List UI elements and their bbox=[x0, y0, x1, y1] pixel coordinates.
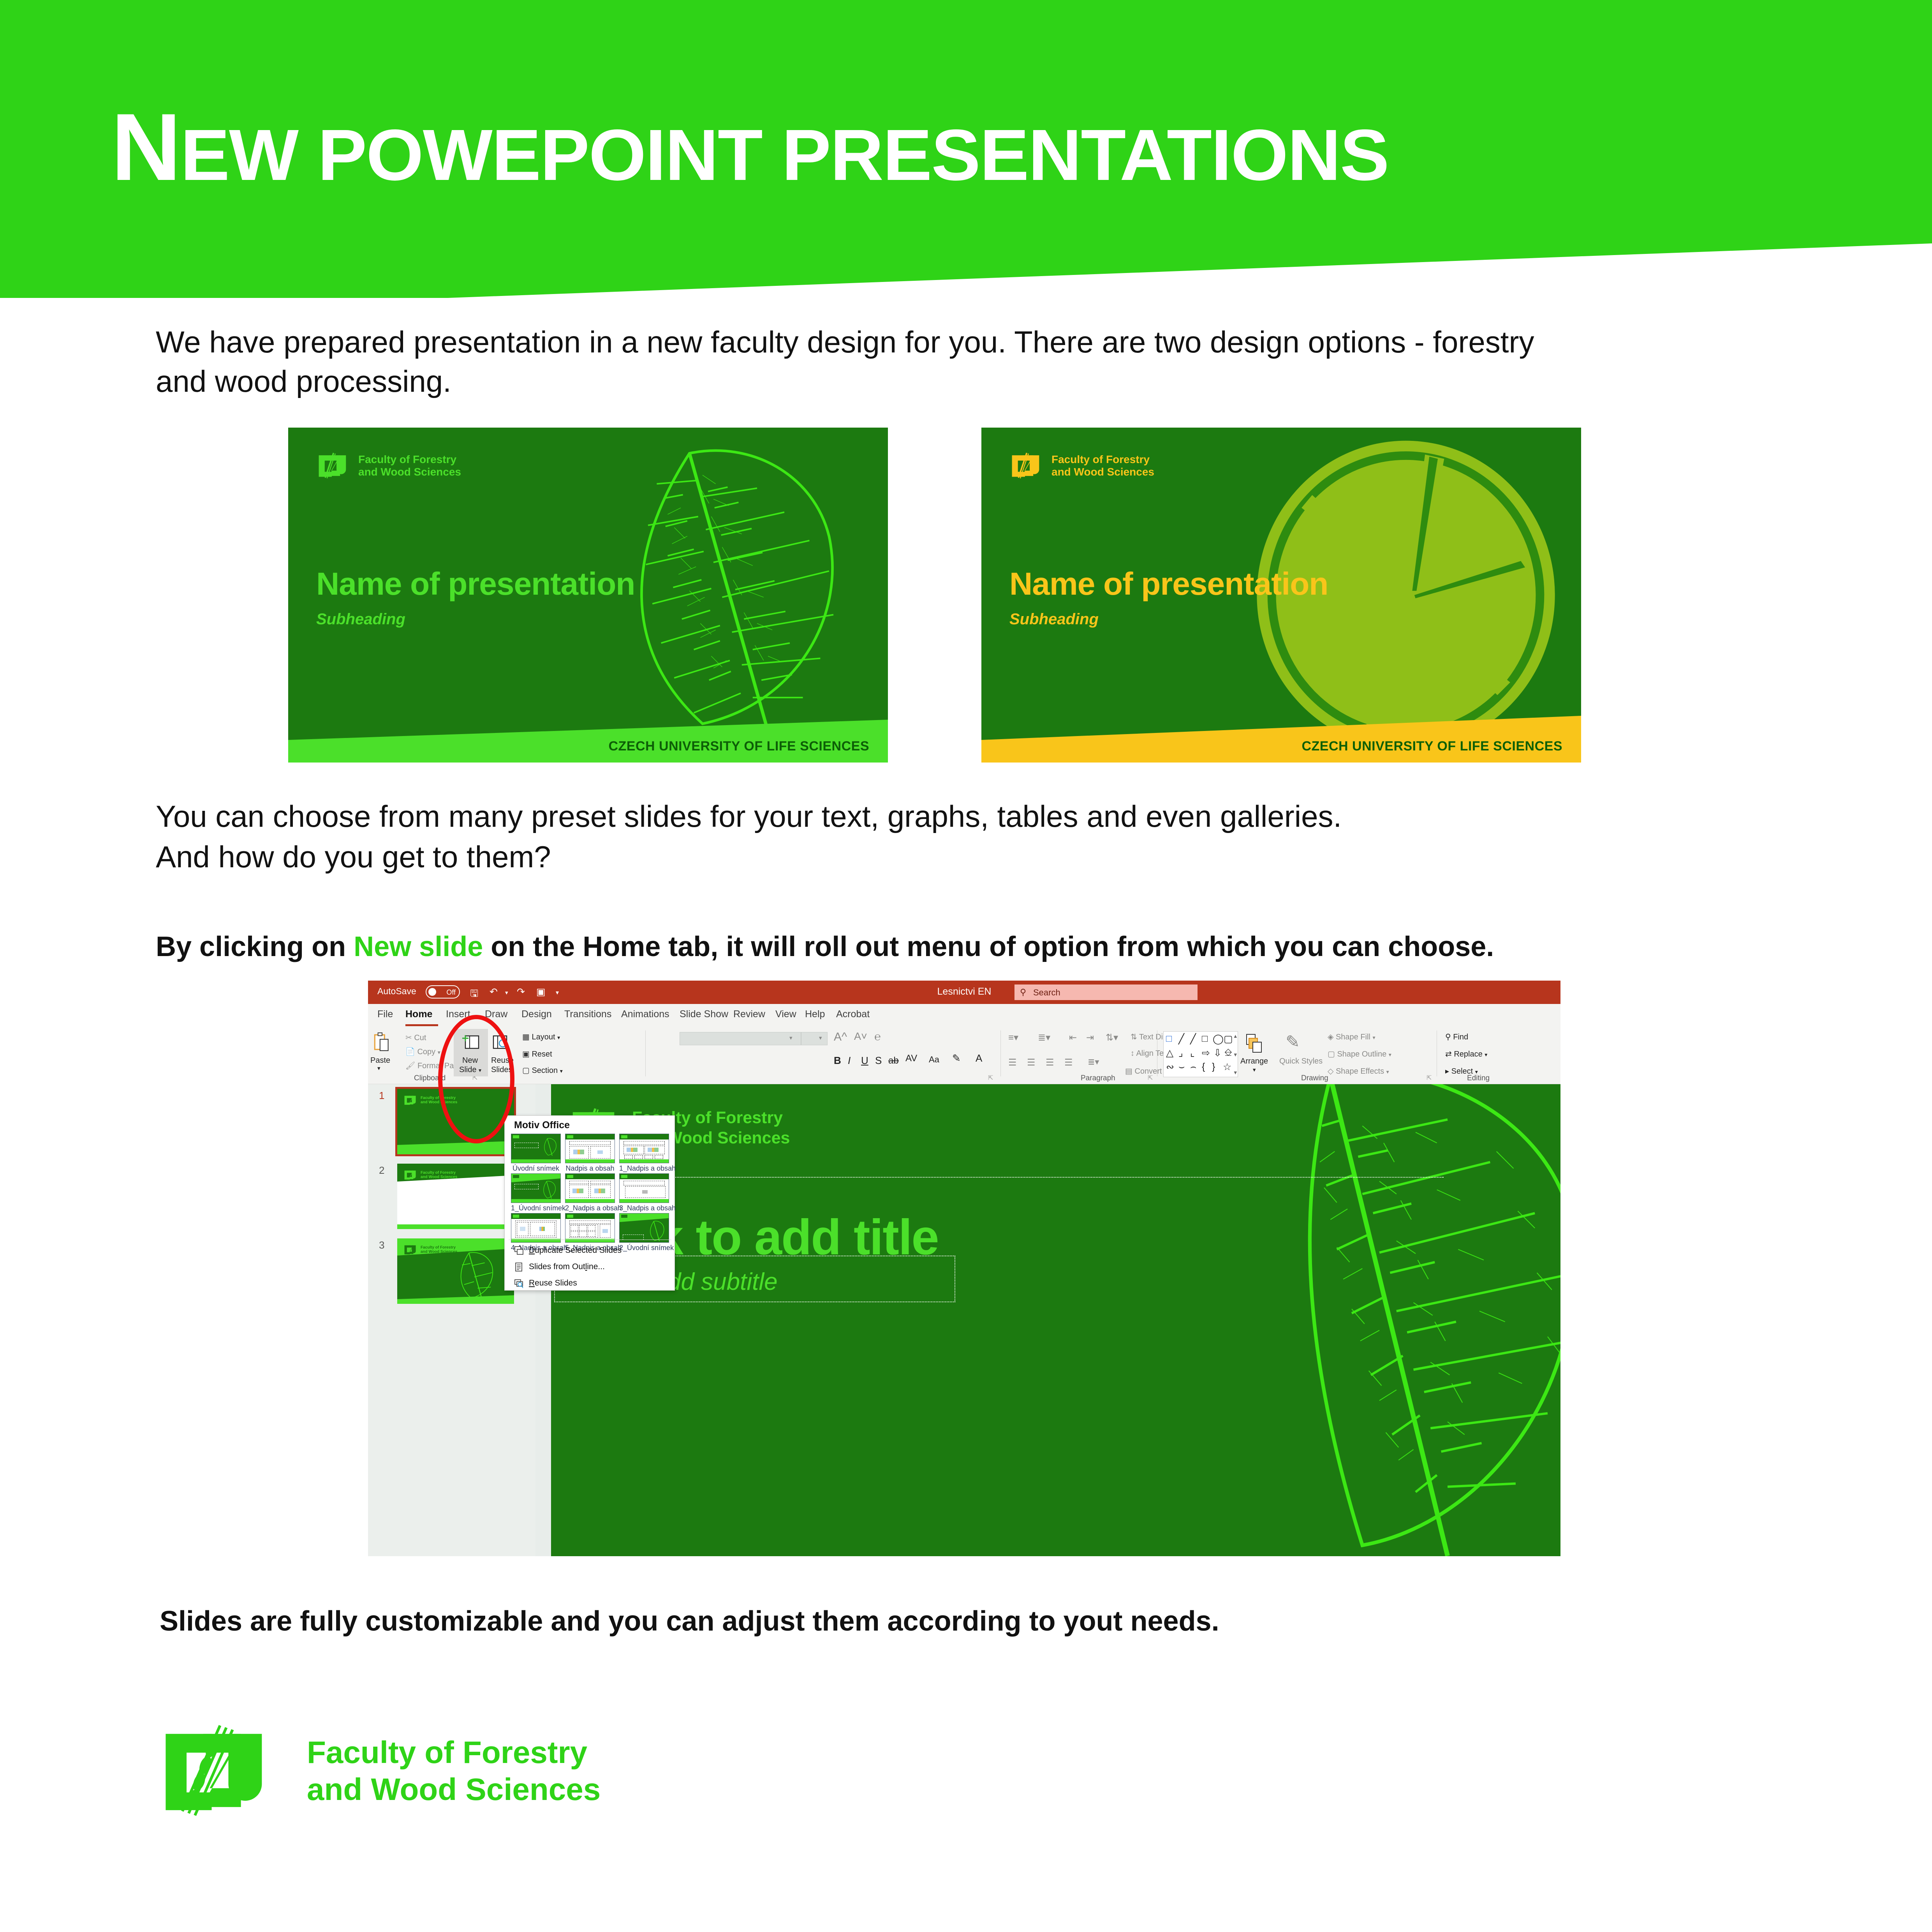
logo-line-2: and Wood Sciences bbox=[1051, 466, 1154, 478]
slide-canvas[interactable]: Faculty of Forestry and Wood Sciences Cl… bbox=[551, 1084, 1560, 1556]
replace-label[interactable]: ⇄ Replace ▾ bbox=[1445, 1049, 1487, 1059]
layout-item-uvodni-snimek[interactable]: Úvodní snímek bbox=[511, 1134, 561, 1173]
layout-item-2-uvodni-snimek[interactable]: 2_Úvodní snímek bbox=[619, 1213, 669, 1252]
font-family-input[interactable] bbox=[680, 1032, 801, 1045]
tab-file[interactable]: File bbox=[377, 1009, 393, 1020]
section-label[interactable]: ▢ Section ▾ bbox=[522, 1066, 563, 1075]
search-icon: ⚲ bbox=[1020, 987, 1026, 997]
layout-item-1-uvodni-snimek[interactable]: 1_Úvodní snímek bbox=[511, 1173, 561, 1212]
layout-thumbnail bbox=[511, 1213, 561, 1243]
group-divider bbox=[1437, 1030, 1437, 1076]
slide-logo: Faculty of Forestry and Wood Sciences bbox=[1009, 452, 1154, 480]
middle-line-1: You can choose from many preset slides f… bbox=[156, 796, 1791, 837]
ppt-workspace: 1 Faculty of Forestry and Wood Sciences bbox=[368, 1084, 1560, 1556]
shapes-scroll-up-icon[interactable]: ▴ bbox=[1234, 1032, 1237, 1039]
layout-item-1-nadpis-a-obsah[interactable]: 1_Nadpis a obsah bbox=[619, 1134, 669, 1173]
character-spacing-button[interactable]: AV bbox=[905, 1053, 917, 1064]
page-title: NEW POWEPOINT PRESENTATIONS bbox=[111, 99, 1389, 195]
middle-line-2: And how do you get to them? bbox=[156, 837, 1791, 877]
thumbnail-number-2: 2 bbox=[379, 1164, 384, 1176]
left-brace-shape-icon[interactable]: { bbox=[1202, 1061, 1205, 1073]
rounded-rect-shape-icon[interactable]: ▢ bbox=[1224, 1033, 1233, 1045]
columns-icon[interactable]: ≣▾ bbox=[1088, 1057, 1099, 1067]
drawing-dialog-launcher[interactable]: ⇱ bbox=[1427, 1074, 1432, 1082]
tab-review[interactable]: Review bbox=[733, 1009, 765, 1020]
arrange-icon[interactable] bbox=[1245, 1033, 1265, 1055]
layout-item-2-nadpis-a-obsah[interactable]: 2_Nadpis a obsah bbox=[565, 1173, 615, 1212]
quick-styles-label-1[interactable]: Quick Styles bbox=[1279, 1057, 1323, 1066]
font-family-chevron-icon[interactable]: ▾ bbox=[789, 1034, 793, 1041]
menu-item-slides-from-outline[interactable]: Slides from Outline... bbox=[529, 1262, 605, 1272]
decrease-font-size-icon[interactable]: A˅ bbox=[854, 1030, 867, 1043]
ellipse-shape-icon[interactable]: ◯ bbox=[1213, 1033, 1224, 1045]
layout-thumbnail bbox=[565, 1134, 615, 1163]
right-brace-shape-icon[interactable]: } bbox=[1212, 1061, 1215, 1073]
shapes-more-icon[interactable]: ▾ bbox=[1234, 1069, 1237, 1076]
triangle-shape-icon[interactable]: △ bbox=[1166, 1047, 1173, 1059]
document-name: Lesnictvi EN bbox=[368, 986, 1560, 997]
line-spacing-icon[interactable]: ⇅▾ bbox=[1106, 1032, 1118, 1043]
font-size-chevron-icon[interactable]: ▾ bbox=[819, 1034, 822, 1041]
thumbnail-band bbox=[397, 1141, 514, 1154]
italic-button[interactable]: I bbox=[848, 1055, 851, 1067]
layout-thumbnail bbox=[511, 1134, 561, 1163]
dropdown-header: Motiv Office bbox=[514, 1120, 570, 1131]
ribbon-tab-strip: File Home Insert Draw Design Transitions… bbox=[368, 1004, 1560, 1027]
tab-transitions[interactable]: Transitions bbox=[564, 1009, 611, 1020]
logo-line-2: and Wood Sciences bbox=[358, 466, 461, 478]
czu-logo-icon bbox=[403, 1244, 418, 1256]
shapes-scroll-down-icon[interactable]: ▾ bbox=[1234, 1051, 1237, 1058]
tab-help[interactable]: Help bbox=[805, 1009, 825, 1020]
elbow-shape-icon[interactable]: ⌟ bbox=[1178, 1047, 1183, 1059]
search-placeholder: Search bbox=[1033, 988, 1060, 998]
menu-item-duplicate-selected-slides[interactable]: Duplicate Selected Slides bbox=[529, 1246, 622, 1255]
increase-font-size-icon[interactable]: A^ bbox=[834, 1030, 847, 1044]
clear-formatting-icon[interactable]: ℮ bbox=[874, 1030, 881, 1043]
logo-line-1: Faculty of Forestry bbox=[421, 1171, 457, 1175]
header-banner: NEW POWEPOINT PRESENTATIONS bbox=[0, 0, 1932, 308]
layout-label: 2_Úvodní snímek bbox=[619, 1244, 669, 1252]
layout-thumbnail bbox=[619, 1173, 669, 1203]
instruction-line: By clicking on New slide on the Home tab… bbox=[156, 931, 1791, 963]
flowchart-shape-icon[interactable]: ⎒ bbox=[1224, 1047, 1232, 1058]
quick-styles-icon[interactable]: ✎ bbox=[1286, 1032, 1300, 1052]
thumbnail-number-1: 1 bbox=[379, 1090, 384, 1102]
footer-logo-text: Faculty of Forestry and Wood Sciences bbox=[307, 1734, 601, 1808]
curve-shape-icon[interactable]: ∾ bbox=[1166, 1061, 1174, 1073]
slide-footer: CZECH UNIVERSITY OF LIFE SCIENCES bbox=[608, 739, 869, 754]
tab-view[interactable]: View bbox=[775, 1009, 796, 1020]
layout-thumbnail bbox=[619, 1134, 669, 1163]
tab-design[interactable]: Design bbox=[521, 1009, 552, 1020]
down-arrow-shape-icon[interactable]: ⇩ bbox=[1213, 1047, 1222, 1059]
layout-label: 3_Nadpis a obsah bbox=[619, 1204, 669, 1212]
thumbnail-number-3: 3 bbox=[379, 1239, 384, 1251]
leaf-illustration bbox=[1288, 1084, 1560, 1556]
layout-label[interactable]: ▦ Layout ▾ bbox=[522, 1032, 560, 1042]
layout-label: 2_Nadpis a obsah bbox=[565, 1204, 615, 1212]
text-highlight-icon[interactable]: ✎ bbox=[952, 1052, 961, 1064]
ppt-title-bar: AutoSave Off 🖫 ↶ ▾ ↷ ▣ ▾ Lesnictvi EN ⚲ … bbox=[368, 981, 1560, 1004]
font-color-icon[interactable]: A bbox=[976, 1052, 982, 1064]
footer-logo-line-1: Faculty of Forestry bbox=[307, 1734, 601, 1771]
czu-logo-icon bbox=[156, 1721, 284, 1821]
rectangle-shape-icon[interactable]: □ bbox=[1202, 1033, 1208, 1044]
font-size-input[interactable] bbox=[801, 1032, 828, 1045]
layout-item-nadpis-a-obsah[interactable]: Nadpis a obsah bbox=[565, 1134, 615, 1173]
slide-preview-forestry: Faculty of Forestry and Wood Sciences Na… bbox=[288, 428, 888, 763]
align-center-icon[interactable]: ☰ bbox=[1027, 1057, 1036, 1068]
czu-logo-icon bbox=[1009, 452, 1045, 480]
slides-from-outline-icon bbox=[514, 1262, 524, 1272]
align-left-icon[interactable]: ☰ bbox=[1008, 1057, 1017, 1068]
group-divider bbox=[645, 1030, 646, 1076]
intro-line-1: We have prepared presentation in a new f… bbox=[156, 322, 1780, 362]
logo-line-1: Faculty of Forestry bbox=[1051, 453, 1154, 466]
layout-thumbnail bbox=[565, 1213, 615, 1243]
tab-home[interactable]: Home bbox=[405, 1009, 432, 1020]
middle-paragraph: You can choose from many preset slides f… bbox=[156, 796, 1791, 877]
paste-label[interactable]: Paste bbox=[370, 1056, 390, 1065]
tab-acrobat[interactable]: Acrobat bbox=[836, 1009, 870, 1020]
red-highlight-ellipse-icon bbox=[438, 1015, 514, 1143]
new-slide-dropdown[interactable]: Motiv Office Úvodní snímek bbox=[504, 1115, 675, 1291]
footer-logo: Faculty of Forestry and Wood Sciences bbox=[156, 1721, 601, 1821]
slide-subheading: Subheading bbox=[316, 611, 405, 628]
increase-indent-icon[interactable]: ⇥ bbox=[1086, 1032, 1094, 1043]
group-label-editing: Editing bbox=[1467, 1074, 1490, 1083]
search-box[interactable]: ⚲ Search bbox=[1014, 984, 1198, 1000]
logo-line-2: and Wood Sciences bbox=[421, 1175, 457, 1179]
paste-icon[interactable] bbox=[373, 1032, 390, 1052]
right-arrow-shape-icon[interactable]: ⇨ bbox=[1202, 1047, 1210, 1059]
layout-thumbnail bbox=[619, 1213, 669, 1243]
underline-button[interactable]: U bbox=[861, 1055, 868, 1067]
slide-logo-text: Faculty of Forestry and Wood Sciences bbox=[1051, 453, 1154, 478]
group-divider bbox=[1157, 1030, 1157, 1076]
slide-title: Name of presentation bbox=[1009, 566, 1328, 602]
slide-logo: Faculty of Forestry and Wood Sciences bbox=[316, 452, 461, 480]
star-shape-icon[interactable]: ☆ bbox=[1223, 1061, 1231, 1073]
group-label-paragraph: Paragraph bbox=[1081, 1074, 1115, 1083]
paragraph-dialog-launcher[interactable]: ⇱ bbox=[1148, 1074, 1153, 1082]
shadow-button[interactable]: S bbox=[875, 1055, 882, 1067]
thumbnail-logo: Faculty of Forestry and Wood Sciences bbox=[403, 1169, 457, 1181]
bold-button[interactable]: B bbox=[834, 1055, 841, 1067]
layout-item-3-nadpis-a-obsah[interactable]: 3_Nadpis a obsah bbox=[619, 1173, 669, 1212]
layout-label: 1_Nadpis a obsah bbox=[619, 1164, 669, 1173]
tab-animations[interactable]: Animations bbox=[621, 1009, 669, 1020]
numbering-icon[interactable]: ≣▾ bbox=[1038, 1032, 1050, 1043]
shape-fill-label[interactable]: ◈ Shape Fill ▾ bbox=[1328, 1032, 1375, 1042]
thumbnail-slide-2[interactable]: Faculty of Forestry and Wood Sciences bbox=[397, 1164, 514, 1229]
align-right-icon[interactable]: ☰ bbox=[1046, 1057, 1054, 1068]
ribbon: Paste ▾ ✂ Cut 📄 Copy ▾ 🖌 Format Painter … bbox=[368, 1027, 1560, 1084]
shapes-gallery[interactable]: □ ╱ ╱ □ ◯ ▢ △ ⌟ ⌞ ⇨ ⇩ ⎒ ∾ ⌣ ⌢ { } ☆ ▴ ▾ bbox=[1163, 1031, 1238, 1077]
intro-line-2: and wood processing. bbox=[156, 362, 1780, 401]
shape-outline-label[interactable]: ▢ Shape Outline ▾ bbox=[1328, 1049, 1391, 1059]
bullets-icon[interactable]: ≡▾ bbox=[1008, 1032, 1018, 1043]
cut-label[interactable]: ✂ Cut bbox=[405, 1033, 426, 1043]
page-title-initial: N bbox=[111, 93, 180, 200]
tab-slide-show[interactable]: Slide Show bbox=[680, 1009, 728, 1020]
czu-logo-icon bbox=[316, 452, 352, 480]
poster-page: NEW POWEPOINT PRESENTATIONS We have prep… bbox=[0, 0, 1932, 1932]
dropdown-separator bbox=[509, 1240, 671, 1240]
duplicate-slides-icon bbox=[514, 1246, 524, 1256]
layout-thumbnail bbox=[565, 1173, 615, 1203]
slide-title: Name of presentation bbox=[316, 566, 635, 602]
thumbnail-slide-3[interactable]: Faculty of Forestry and Wood Sciences bbox=[397, 1238, 514, 1304]
strikethrough-button[interactable]: ab bbox=[888, 1055, 899, 1066]
layout-label: Úvodní snímek bbox=[511, 1164, 561, 1173]
layout-thumbnail bbox=[511, 1173, 561, 1203]
arrange-chevron-icon[interactable]: ▾ bbox=[1253, 1066, 1256, 1073]
active-tab-underline bbox=[405, 1024, 438, 1026]
group-divider bbox=[1000, 1030, 1001, 1076]
closing-line: Slides are fully customizable and you ca… bbox=[160, 1605, 1795, 1637]
group-label-drawing: Drawing bbox=[1301, 1074, 1328, 1083]
instruction-accent: New slide bbox=[354, 931, 483, 962]
change-case-button[interactable]: Aa bbox=[929, 1055, 939, 1065]
czu-logo-icon bbox=[403, 1094, 418, 1106]
leaf-illustration bbox=[438, 1249, 512, 1304]
thumbnail-band bbox=[397, 1224, 514, 1229]
slide-footer: CZECH UNIVERSITY OF LIFE SCIENCES bbox=[1302, 739, 1562, 754]
czu-logo-icon bbox=[403, 1169, 418, 1181]
scribble-shape-icon[interactable]: ⌢ bbox=[1190, 1061, 1196, 1073]
reuse-slides-icon bbox=[514, 1279, 524, 1289]
reset-label[interactable]: ▣ Reset bbox=[522, 1049, 552, 1059]
line-shape-icon[interactable]: ╱ bbox=[1178, 1033, 1184, 1045]
layout-label: Nadpis a obsah bbox=[565, 1164, 615, 1173]
connector-shape-icon[interactable]: ⌞ bbox=[1190, 1047, 1195, 1059]
menu-item-reuse-slides[interactable]: Reuse Slides bbox=[529, 1279, 577, 1288]
copy-label[interactable]: 📄 Copy ▾ bbox=[405, 1047, 440, 1057]
page-title-rest: EW POWEPOINT PRESENTATIONS bbox=[180, 115, 1388, 195]
slide-preview-wood: Faculty of Forestry and Wood Sciences Na… bbox=[981, 428, 1581, 763]
arrow-shape-icon[interactable]: ╱ bbox=[1190, 1033, 1196, 1045]
logo-line-1: Faculty of Forestry bbox=[358, 453, 461, 466]
intro-paragraph: We have prepared presentation in a new f… bbox=[156, 322, 1780, 402]
thumbnail-logo-text: Faculty of Forestry and Wood Sciences bbox=[421, 1171, 457, 1179]
justify-icon[interactable]: ☰ bbox=[1064, 1057, 1073, 1068]
find-label[interactable]: ⚲ Find bbox=[1445, 1032, 1468, 1042]
slide-logo-text: Faculty of Forestry and Wood Sciences bbox=[358, 453, 461, 478]
slide-subheading: Subheading bbox=[1009, 611, 1099, 628]
powerpoint-screenshot: AutoSave Off 🖫 ↶ ▾ ↷ ▣ ▾ Lesnictvi EN ⚲ … bbox=[368, 981, 1560, 1556]
paste-chevron-icon[interactable]: ▾ bbox=[377, 1065, 380, 1072]
text-box-shape-icon[interactable]: □ bbox=[1166, 1033, 1172, 1044]
instruction-pre: By clicking on bbox=[156, 931, 354, 962]
freeform-shape-icon[interactable]: ⌣ bbox=[1178, 1061, 1185, 1073]
layout-label: 1_Úvodní snímek bbox=[511, 1204, 561, 1212]
font-dialog-launcher[interactable]: ⇱ bbox=[988, 1074, 993, 1082]
decrease-indent-icon[interactable]: ⇤ bbox=[1069, 1032, 1077, 1043]
instruction-post: on the Home tab, it will roll out menu o… bbox=[483, 931, 1494, 962]
footer-logo-line-2: and Wood Sciences bbox=[307, 1771, 601, 1808]
arrange-label[interactable]: Arrange bbox=[1240, 1057, 1268, 1066]
shape-effects-label[interactable]: ◇ Shape Effects ▾ bbox=[1328, 1066, 1389, 1076]
